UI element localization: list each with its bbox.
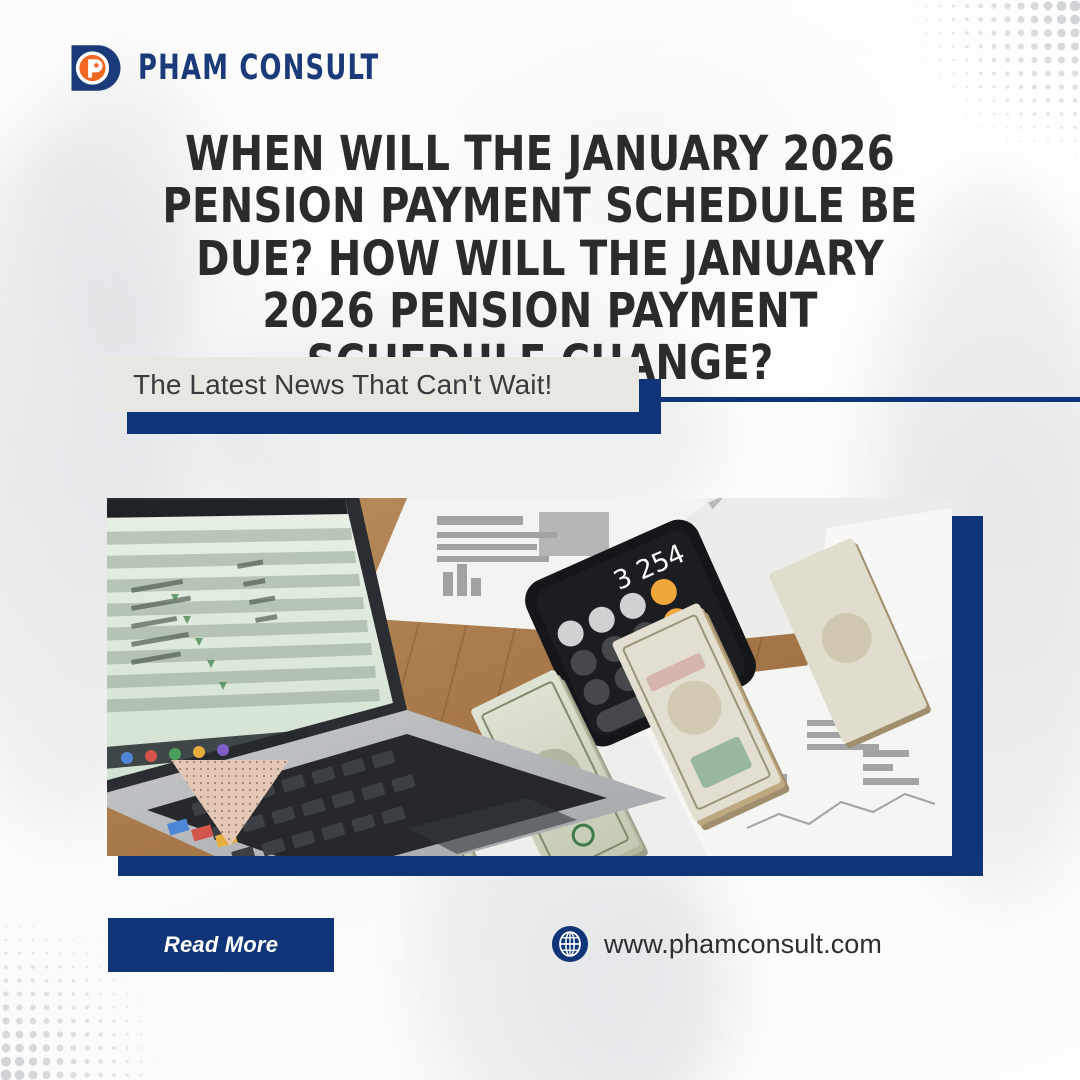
website-link[interactable]: www.phamconsult.com: [551, 925, 882, 963]
subtitle-box: The Latest News That Can't Wait!: [105, 357, 639, 412]
page-title: When Will the January 2026 Pension Payme…: [149, 128, 930, 390]
social-post-canvas: PHAM CONSULT When Will the January 2026 …: [0, 0, 1080, 1080]
website-url: www.phamconsult.com: [604, 929, 882, 960]
brand-logo[interactable]: PHAM CONSULT: [68, 40, 432, 96]
subtitle-banner: The Latest News That Can't Wait!: [105, 357, 985, 437]
brand-name: PHAM CONSULT: [138, 48, 379, 88]
subtitle-divider-line: [661, 397, 1080, 402]
subtitle-text: The Latest News That Can't Wait!: [133, 369, 552, 401]
pham-consult-logo-mark-icon: [68, 40, 124, 96]
feature-image: 3 254: [107, 498, 952, 856]
feature-image-block: 3 254: [107, 498, 973, 876]
globe-icon: [551, 925, 589, 963]
read-more-label: Read More: [164, 932, 278, 958]
read-more-button[interactable]: Read More: [108, 918, 334, 972]
